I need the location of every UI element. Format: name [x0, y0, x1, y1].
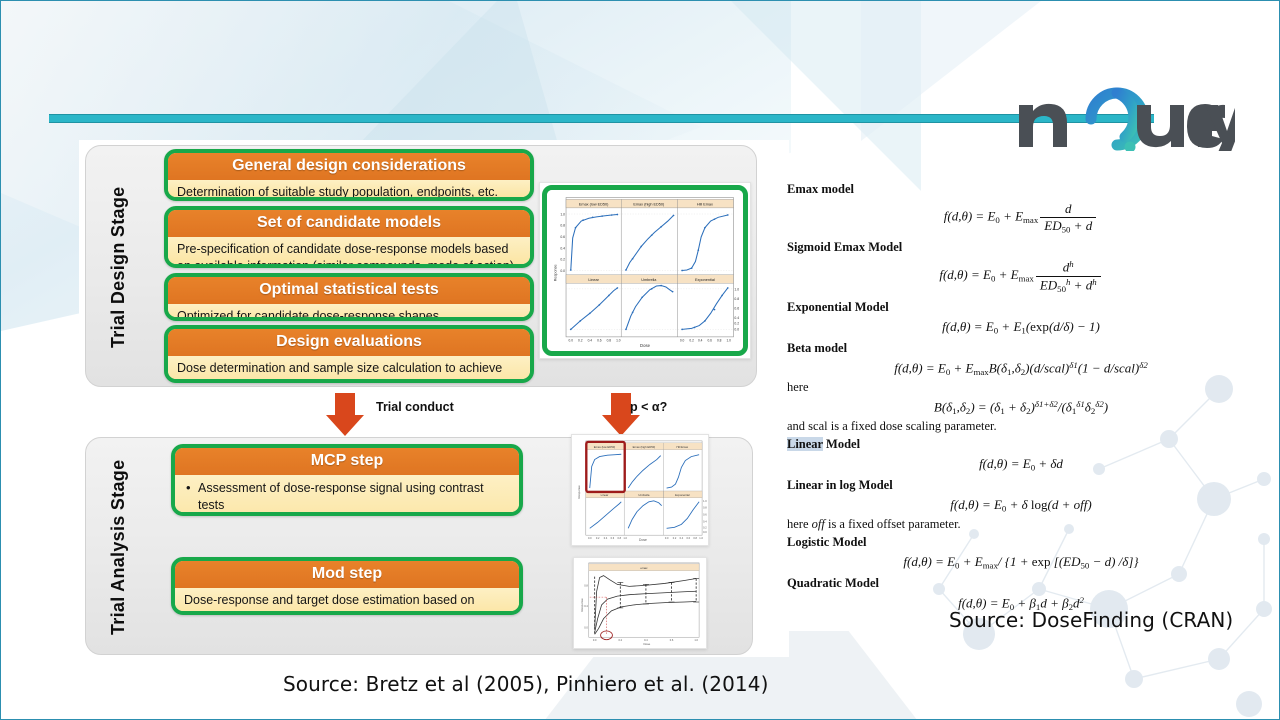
svg-text:0.8: 0.8: [618, 536, 622, 540]
mod-chart-svg: Response Dose emax: [574, 558, 706, 648]
lattice-chart-svg: Response Dose Emax (low ED50) Emax (high…: [547, 190, 743, 351]
svg-text:0.4: 0.4: [604, 536, 608, 540]
card-optimal-statistical-tests[interactable]: Optimal statistical tests Optimized for …: [164, 273, 534, 321]
svg-text:Exponential: Exponential: [675, 493, 690, 497]
svg-text:1.0: 1.0: [703, 499, 707, 503]
formula-title-linear: Linear Model: [787, 437, 1255, 452]
svg-text:0.6: 0.6: [611, 536, 615, 540]
formula-title-sigmoid-emax: Sigmoid Emax Model: [787, 240, 1255, 255]
formula-title-beta: Beta model: [787, 341, 1255, 356]
svg-text:0.8: 0.8: [734, 297, 739, 301]
svg-text:0.2: 0.2: [560, 258, 565, 262]
svg-text:1.0: 1.0: [726, 339, 731, 343]
svg-text:1.0: 1.0: [699, 536, 703, 540]
svg-text:0.8: 0.8: [717, 339, 722, 343]
svg-text:Exponential: Exponential: [695, 278, 715, 282]
svg-text:0.0: 0.0: [593, 638, 597, 642]
formula-title-linear-rest: Model: [823, 437, 860, 451]
slide-canvas: Trial Design Stage General design consid…: [0, 0, 1280, 720]
card-title: General design considerations: [168, 153, 530, 180]
svg-text:0.4: 0.4: [698, 339, 703, 343]
card-body: Dose-response and target dose estimation…: [175, 588, 519, 615]
card-body: Determination of suitable study populati…: [168, 180, 530, 201]
mcp-lattice-svg: Response Dose Emax (low ED50) Emax (high…: [572, 435, 708, 545]
formula-equation-beta-constant: B(δ1,δ2) = (δ1 + δ2)δ1+δ2/(δ1δ1δ2δ2): [787, 395, 1255, 419]
svg-text:1.0: 1.0: [560, 212, 565, 216]
svg-text:0.4: 0.4: [588, 339, 593, 343]
svg-text:0.6: 0.6: [707, 339, 712, 343]
svg-text:Linear: Linear: [601, 493, 609, 497]
svg-text:0.6: 0.6: [687, 536, 691, 540]
svg-text:0.8: 0.8: [703, 506, 707, 510]
source-citation-right: Source: DoseFinding (CRAN): [949, 608, 1233, 632]
svg-text:0.2: 0.2: [596, 536, 600, 540]
svg-text:Response: Response: [577, 485, 581, 499]
formula-title-emax: Emax model: [787, 182, 1255, 197]
nquery-logo: [1013, 85, 1235, 151]
svg-text:0.0: 0.0: [703, 530, 707, 534]
mcp-step-chart[interactable]: Response Dose Emax (low ED50) Emax (high…: [571, 434, 709, 546]
svg-text:0.8: 0.8: [693, 536, 697, 540]
svg-text:0.8: 0.8: [584, 583, 588, 587]
svg-text:Emax (high ED50): Emax (high ED50): [633, 445, 656, 449]
svg-text:0.6: 0.6: [597, 339, 602, 343]
svg-text:0.0: 0.0: [588, 536, 592, 540]
card-general-design-considerations[interactable]: General design considerations Determinat…: [164, 149, 534, 201]
svg-text:0.4: 0.4: [584, 604, 588, 608]
svg-text:Response: Response: [553, 264, 557, 281]
card-title: MCP step: [175, 448, 519, 475]
svg-text:0.6: 0.6: [560, 235, 565, 239]
svg-text:1.0: 1.0: [623, 536, 627, 540]
svg-text:Umbrella: Umbrella: [641, 278, 657, 282]
svg-text:0.2: 0.2: [619, 638, 623, 642]
svg-text:0.6: 0.6: [703, 513, 707, 517]
svg-text:0.0: 0.0: [680, 339, 685, 343]
formula-title-quadratic: Quadratic Model: [787, 576, 1255, 591]
svg-text:0.2: 0.2: [673, 536, 677, 540]
svg-text:0.2: 0.2: [734, 322, 739, 326]
card-body: Dose determination and sample size calcu…: [168, 356, 530, 383]
svg-text:Emax (low ED50): Emax (low ED50): [579, 203, 609, 207]
trial-design-stage-label: Trial Design Stage: [108, 170, 129, 364]
svg-text:0.0: 0.0: [569, 339, 574, 343]
formula-equation-exponential: f(d,θ) = E0 + E1(exp(d/δ) − 1): [787, 315, 1255, 338]
svg-text:0.8: 0.8: [607, 339, 612, 343]
formula-title-linear-in-log: Linear in log Model: [787, 478, 1255, 493]
svg-text:Hill Emax: Hill Emax: [697, 203, 713, 207]
card-body: Pre-specification of candidate dose-resp…: [168, 237, 530, 268]
card-mcp-step[interactable]: MCP step Assessment of dose-response sig…: [171, 444, 523, 516]
mod-step-chart[interactable]: Response Dose emax: [573, 557, 707, 649]
svg-text:Dose: Dose: [640, 343, 651, 348]
svg-text:Hill Emax: Hill Emax: [677, 445, 689, 449]
card-design-evaluations[interactable]: Design evaluations Dose determination an…: [164, 325, 534, 383]
card-title: Set of candidate models: [168, 210, 530, 237]
card-title: Design evaluations: [168, 329, 530, 356]
card-title: Mod step: [175, 561, 519, 588]
dose-response-model-formulas: Emax model f(d,θ) = E0 + EmaxdED50 + d S…: [787, 179, 1255, 589]
formula-title-linear-highlight: Linear: [787, 437, 823, 451]
svg-text:Umbrella: Umbrella: [638, 493, 649, 497]
formula-title-exponential: Exponential Model: [787, 300, 1255, 315]
arrow-trial-conduct: [325, 393, 365, 437]
trial-analysis-stage-label: Trial Analysis Stage: [108, 452, 129, 642]
svg-text:Dose: Dose: [643, 642, 650, 646]
svg-text:1.0: 1.0: [616, 339, 621, 343]
svg-text:1.0: 1.0: [694, 638, 698, 642]
label-trial-conduct: Trial conduct: [376, 400, 454, 414]
formula-note-scal: and scal is a fixed dose scaling paramet…: [787, 419, 1255, 434]
svg-text:Dose: Dose: [639, 538, 647, 542]
svg-text:1.0: 1.0: [734, 288, 739, 292]
svg-text:0.6: 0.6: [670, 638, 674, 642]
list-item: Model selection (or model averaging) out…: [184, 514, 511, 516]
svg-text:0.8: 0.8: [560, 224, 565, 228]
svg-text:0.2: 0.2: [578, 339, 583, 343]
formula-equation-linear: f(d,θ) = E0 + δd: [787, 452, 1255, 475]
svg-text:0.6: 0.6: [734, 307, 739, 311]
svg-text:0.4: 0.4: [560, 246, 565, 250]
candidate-models-chart[interactable]: Response Dose Emax (low ED50) Emax (high…: [542, 185, 748, 356]
header-divider-rule: [49, 114, 1154, 123]
card-body: Assessment of dose-response signal using…: [175, 475, 519, 516]
svg-text:Linear: Linear: [588, 278, 599, 282]
list-item: Assessment of dose-response signal using…: [184, 480, 511, 513]
svg-text:Emax (high ED50): Emax (high ED50): [633, 203, 665, 207]
svg-text:Emax (low ED50): Emax (low ED50): [594, 445, 616, 449]
source-citation-left: Source: Bretz et al (2005), Pinhiero et …: [283, 672, 769, 696]
card-mod-step[interactable]: Mod step Dose-response and target dose e…: [171, 557, 523, 615]
formula-title-logistic: Logistic Model: [787, 535, 1255, 550]
svg-text:0.4: 0.4: [644, 638, 648, 642]
formula-equation-sigmoid-emax: f(d,θ) = E0 + EmaxdhED50h + dh: [787, 255, 1255, 296]
formula-note-here: here: [787, 380, 1255, 395]
svg-text:0.0: 0.0: [734, 327, 739, 331]
svg-text:0.0: 0.0: [560, 269, 565, 273]
formula-note-off: here off is a fixed offset parameter.: [787, 517, 1255, 532]
formula-equation-linear-in-log: f(d,θ) = E0 + δ log(d + off): [787, 493, 1255, 516]
svg-text:0.4: 0.4: [734, 316, 739, 320]
formula-equation-emax: f(d,θ) = E0 + EmaxdED50 + d: [787, 197, 1255, 237]
formula-equation-beta: f(d,θ) = E0 + EmaxB(δ1,δ2)(d/scal)δ1(1 −…: [787, 356, 1255, 380]
formula-equation-logistic: f(d,θ) = E0 + Emax/ {1 + exp [(ED50 − d)…: [787, 550, 1255, 573]
label-p-value-threshold: p < α?: [630, 400, 667, 414]
svg-text:0.0: 0.0: [665, 536, 669, 540]
svg-text:0.4: 0.4: [680, 536, 684, 540]
svg-text:0.0: 0.0: [584, 625, 588, 629]
card-body: Optimized for candidate dose-response sh…: [168, 304, 530, 321]
svg-text:emax: emax: [640, 566, 648, 570]
card-title: Optimal statistical tests: [168, 277, 530, 304]
svg-text:0.4: 0.4: [703, 519, 707, 523]
card-set-of-candidate-models[interactable]: Set of candidate models Pre-specificatio…: [164, 206, 534, 268]
svg-text:0.2: 0.2: [703, 525, 707, 529]
svg-text:0.2: 0.2: [689, 339, 694, 343]
